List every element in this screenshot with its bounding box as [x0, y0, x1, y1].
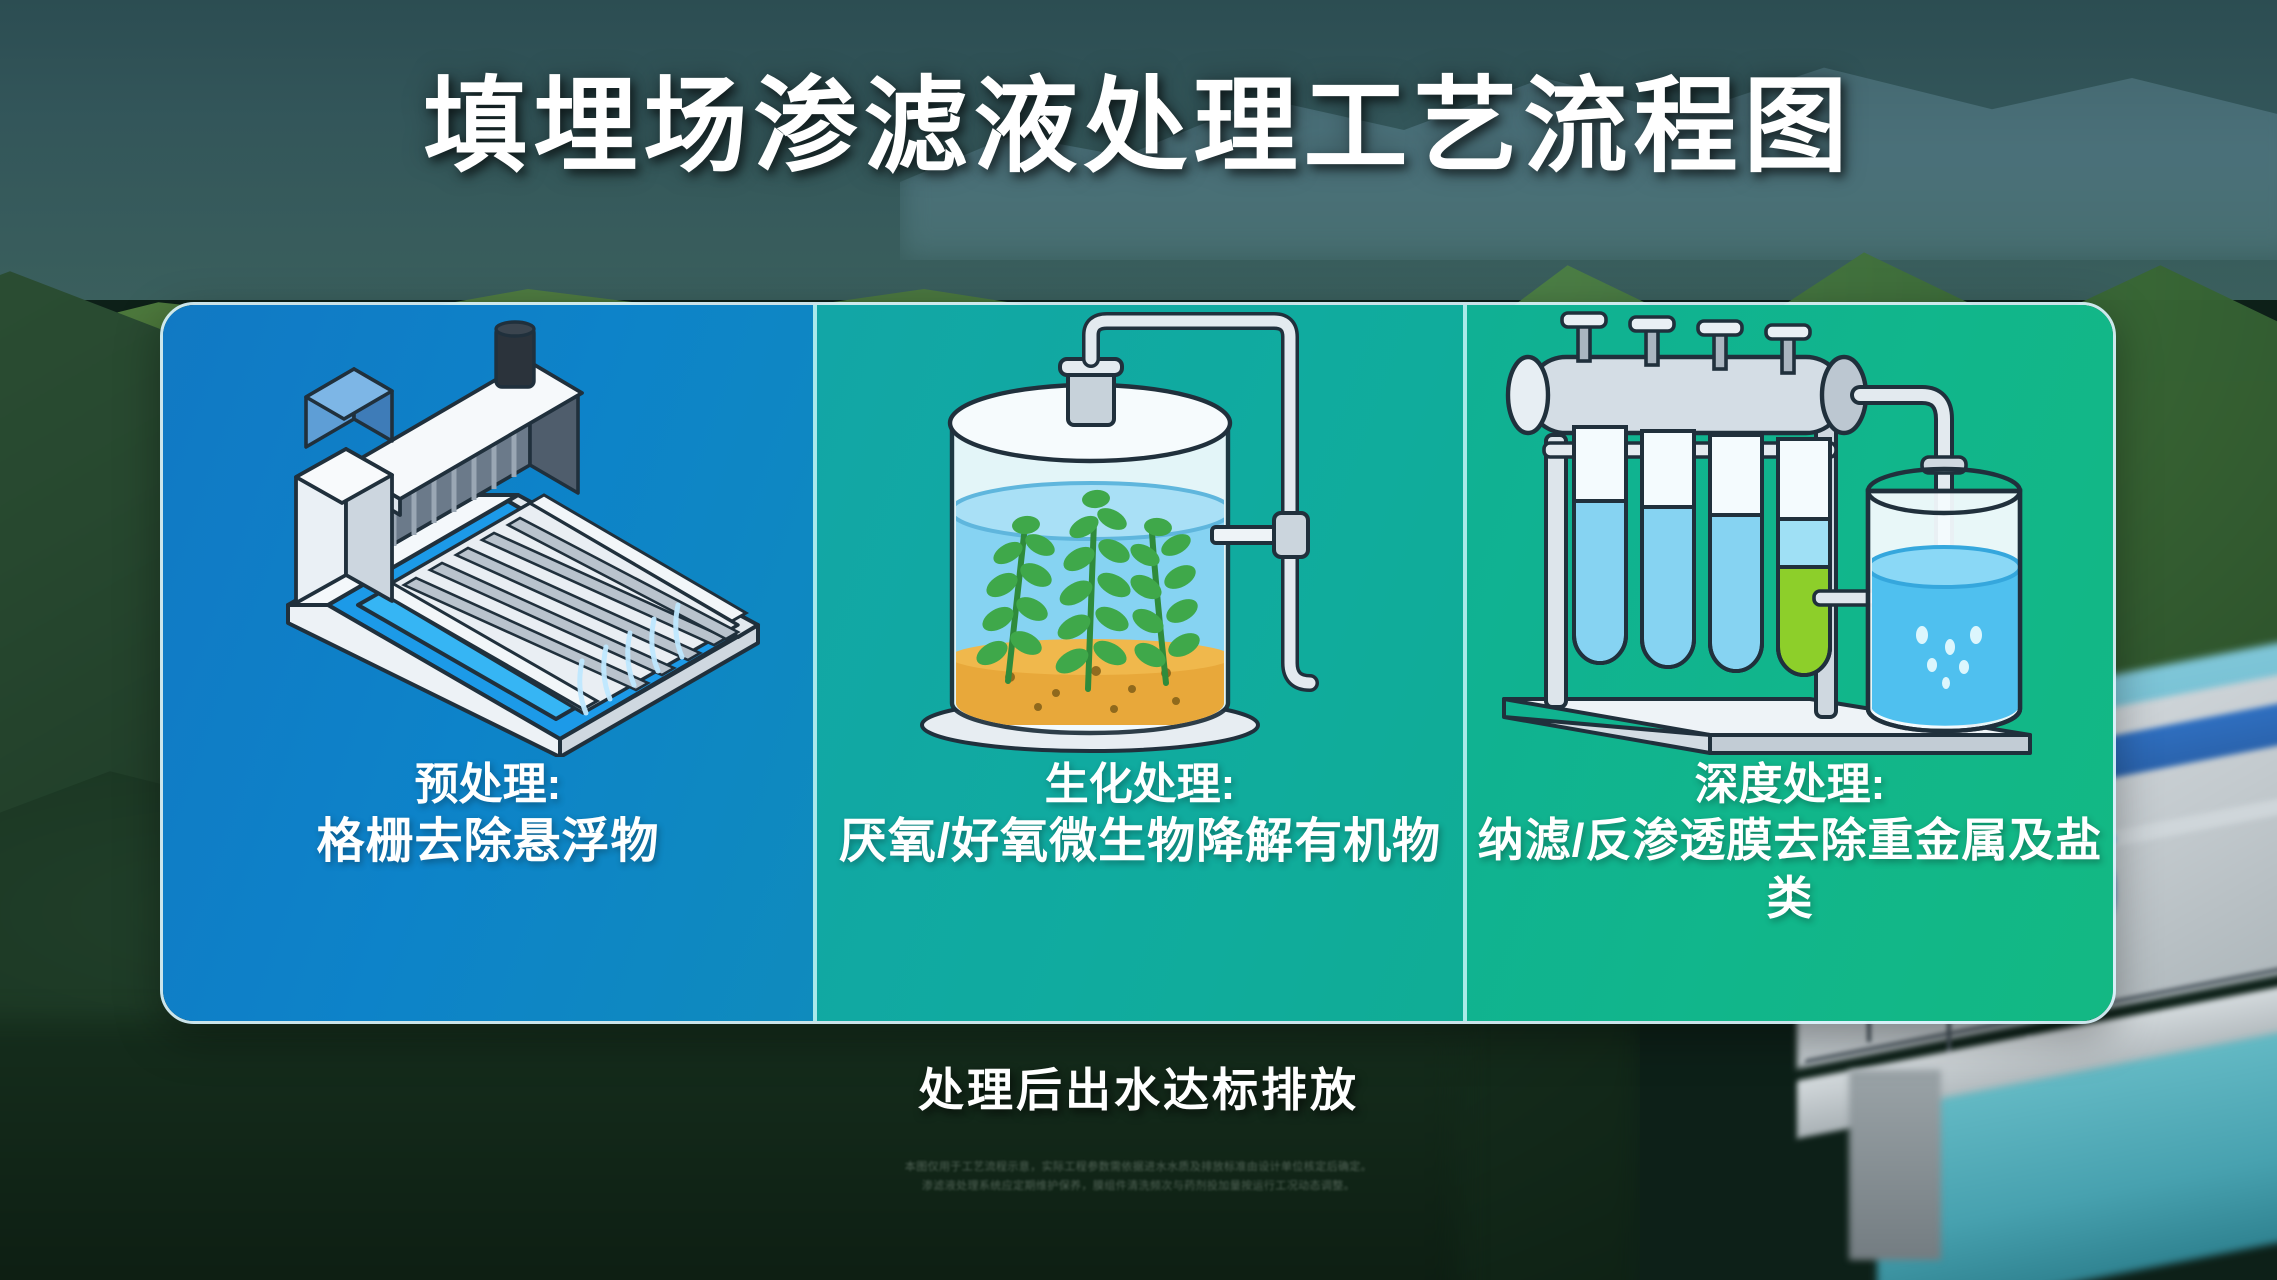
bar-screen-icon — [178, 305, 798, 757]
page-title: 填埋场渗滤液处理工艺流程图 — [0, 70, 2277, 184]
advanced-stage-label: 深度处理: — [1467, 757, 2113, 812]
pretreatment-labels: 预处理: 格栅去除悬浮物 — [163, 757, 813, 873]
footer-caption: 处理后出水达标排放 — [0, 1054, 2277, 1120]
pretreatment-stage-label: 预处理: — [163, 757, 813, 812]
stage-card-advanced[interactable]: 深度处理: 纳滤/反渗透膜去除重金属及盐类 — [1463, 305, 2113, 1021]
bar-screen-illustration — [163, 305, 813, 757]
advanced-detail-label: 纳滤/反渗透膜去除重金属及盐类 — [1467, 812, 2113, 928]
biochemical-stage-label: 生化处理: — [817, 757, 1463, 812]
pretreatment-detail-label: 格栅去除悬浮物 — [163, 812, 813, 872]
biochemical-detail-label: 厌氧/好氧微生物降解有机物 — [817, 812, 1463, 872]
stage-card-biochemical[interactable]: 生化处理: 厌氧/好氧微生物降解有机物 — [813, 305, 1463, 1021]
watermark-text: 本图仅用于工艺流程示意，实际工程参数需依据进水水质及排放标准由设计单位核定后确定… — [0, 1158, 2277, 1195]
membrane-filtration-icon — [1470, 305, 2110, 757]
bioreactor-tank-icon — [860, 305, 1420, 757]
biochemical-labels: 生化处理: 厌氧/好氧微生物降解有机物 — [817, 757, 1463, 873]
process-flow-panel: 预处理: 格栅去除悬浮物 — [160, 302, 2116, 1024]
stage-card-pretreatment[interactable]: 预处理: 格栅去除悬浮物 — [163, 305, 813, 1021]
bioreactor-illustration — [817, 305, 1463, 757]
membrane-filtration-illustration — [1467, 305, 2113, 757]
advanced-labels: 深度处理: 纳滤/反渗透膜去除重金属及盐类 — [1467, 757, 2113, 928]
